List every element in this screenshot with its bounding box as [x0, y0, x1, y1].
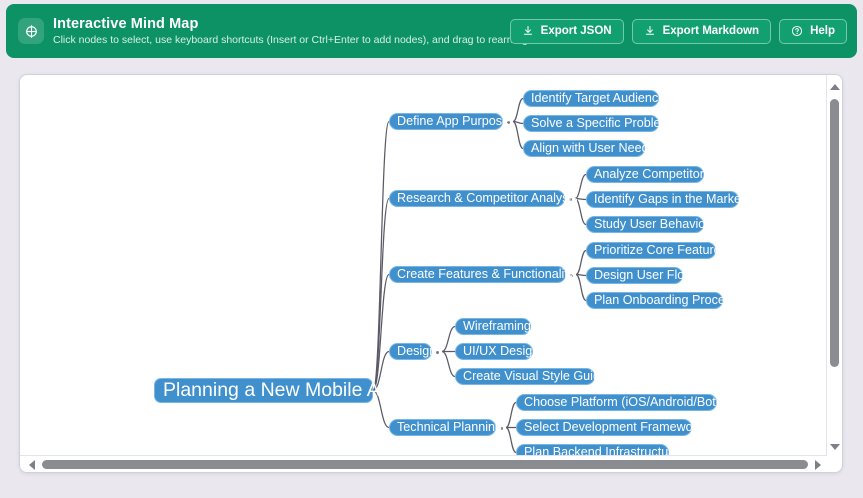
- node-label: Prioritize Core Features: [594, 244, 727, 257]
- mindmap-node-l1-0[interactable]: Define App Purpose: [389, 113, 503, 130]
- mindmap-app: Interactive Mind Map Click nodes to sele…: [0, 0, 863, 498]
- mindmap-node-l2-3-2[interactable]: Create Visual Style Guide: [455, 368, 595, 385]
- question-circle-icon: [791, 25, 803, 37]
- node-label: UI/UX Design: [463, 345, 539, 358]
- app-brand: Interactive Mind Map Click nodes to sele…: [6, 16, 534, 47]
- collapse-indicator-dot[interactable]: [436, 351, 439, 354]
- node-label: Design: [397, 345, 436, 358]
- vertical-scrollbar[interactable]: [826, 75, 842, 456]
- node-label: Create Features & Functionality: [397, 268, 574, 281]
- node-label: Study User Behavior: [594, 218, 710, 231]
- page-title: Interactive Mind Map: [53, 16, 534, 33]
- mindmap-viewport[interactable]: Identify Target AudienceSolve a Specific…: [20, 75, 827, 456]
- mindmap-node-l2-4-1[interactable]: Select Development Framework: [516, 419, 692, 436]
- app-brand-text: Interactive Mind Map Click nodes to sele…: [53, 16, 534, 47]
- mindmap-node-l1-1[interactable]: Research & Competitor Analysis: [389, 190, 565, 207]
- download-icon: [522, 25, 534, 37]
- mindmap-root-node[interactable]: Planning a New Mobile App: [154, 378, 373, 403]
- scroll-left-arrow[interactable]: [24, 457, 39, 472]
- export-markdown-label: Export Markdown: [663, 25, 759, 37]
- mindmap-node-l2-2-0[interactable]: Prioritize Core Features: [586, 242, 716, 259]
- mindmap-node-l1-2[interactable]: Create Features & Functionality: [389, 266, 566, 283]
- mindmap-node-l2-1-2[interactable]: Study User Behavior: [586, 216, 704, 233]
- mindmap-node-l1-4[interactable]: Technical Planning: [389, 419, 496, 436]
- horizontal-scroll-thumb[interactable]: [42, 460, 808, 469]
- mindmap-node-icon: [18, 18, 44, 44]
- header-actions: Export JSON Export Markdown: [510, 4, 847, 58]
- download-icon: [644, 25, 656, 37]
- page-subtitle: Click nodes to select, use keyboard shor…: [53, 33, 534, 47]
- scroll-up-arrow[interactable]: [827, 79, 842, 94]
- node-label: Select Development Framework: [524, 421, 703, 434]
- app-header: Interactive Mind Map Click nodes to sele…: [6, 4, 857, 58]
- mindmap-node-l1-3[interactable]: Design: [389, 343, 432, 360]
- mindmap-node-l2-3-0[interactable]: Wireframing: [455, 318, 531, 335]
- node-label: Align with User Needs: [531, 142, 655, 155]
- scroll-right-arrow[interactable]: [810, 457, 825, 472]
- mindmap-canvas-card: Identify Target AudienceSolve a Specific…: [19, 74, 843, 473]
- node-label: Define App Purpose: [397, 115, 509, 128]
- vertical-scroll-thumb[interactable]: [830, 99, 839, 367]
- node-label: Plan Onboarding Process: [594, 294, 738, 307]
- node-label: Create Visual Style Guide: [463, 370, 607, 383]
- node-label: Identify Gaps in the Market: [594, 193, 745, 206]
- node-label: Analyze Competitors: [594, 168, 710, 181]
- node-label: Wireframing: [463, 320, 531, 333]
- node-label: Technical Planning: [397, 421, 502, 434]
- mindmap-node-l2-1-1[interactable]: Identify Gaps in the Market: [586, 191, 739, 208]
- node-label: Identify Target Audience: [531, 92, 665, 105]
- export-json-button[interactable]: Export JSON: [510, 19, 624, 44]
- node-label: Planning a New Mobile App: [163, 381, 402, 401]
- export-json-label: Export JSON: [541, 25, 612, 37]
- help-button[interactable]: Help: [779, 19, 847, 44]
- horizontal-scrollbar[interactable]: [20, 455, 827, 472]
- mindmap-node-l2-1-0[interactable]: Analyze Competitors: [586, 166, 704, 183]
- mindmap-node-l2-0-1[interactable]: Solve a Specific Problem: [523, 115, 659, 132]
- mindmap-node-l2-4-0[interactable]: Choose Platform (iOS/Android/Both): [516, 394, 717, 411]
- mindmap-node-l2-3-1[interactable]: UI/UX Design: [455, 343, 533, 360]
- help-label: Help: [810, 25, 835, 37]
- mindmap-node-l2-0-2[interactable]: Align with User Needs: [523, 140, 645, 157]
- node-label: Choose Platform (iOS/Android/Both): [524, 396, 727, 409]
- mindmap-node-l2-0-0[interactable]: Identify Target Audience: [523, 90, 659, 107]
- node-label: Solve a Specific Problem: [531, 117, 671, 130]
- node-label: Research & Competitor Analysis: [397, 192, 578, 205]
- export-markdown-button[interactable]: Export Markdown: [632, 19, 771, 44]
- scroll-down-arrow[interactable]: [827, 439, 842, 454]
- node-label: Design User Flow: [594, 269, 693, 282]
- mindmap-node-l2-2-2[interactable]: Plan Onboarding Process: [586, 292, 723, 309]
- mindmap-node-l2-2-1[interactable]: Design User Flow: [586, 267, 683, 284]
